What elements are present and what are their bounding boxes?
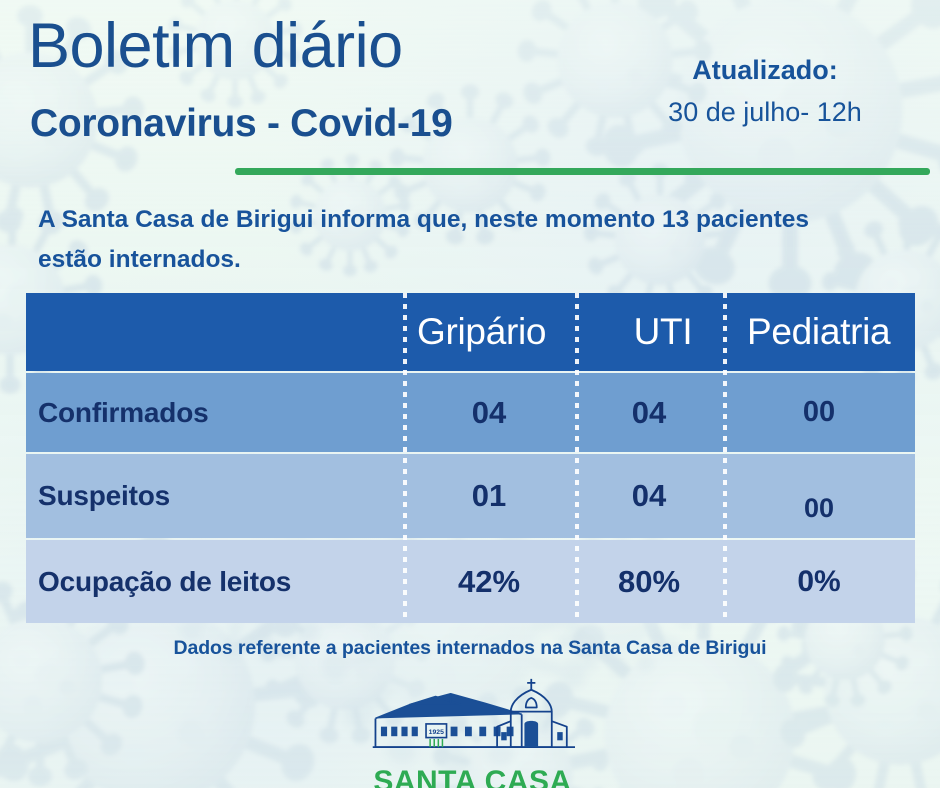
- cell-ocupacao-uti: 80%: [575, 564, 723, 600]
- updated-block: Atualizado: 30 de julho- 12h: [590, 52, 940, 132]
- row-label-ocupacao: Ocupação de leitos: [26, 566, 403, 598]
- table-row: Ocupação de leitos 42% 80% 0%: [26, 540, 915, 623]
- cell-confirmados-pediatria: 00: [723, 396, 915, 429]
- header: Boletim diário Coronavirus - Covid-19 At…: [0, 0, 940, 190]
- cell-confirmados-uti: 04: [575, 395, 723, 431]
- table-row: Confirmados 04 04 00: [26, 373, 915, 452]
- row-label-text: Ocupação de leitos: [38, 566, 291, 597]
- hospital-building-icon: 1925: [370, 676, 575, 765]
- column-header-uti: UTI: [589, 311, 737, 353]
- table-row: Suspeitos 01 04 00: [26, 454, 915, 538]
- row-label-suspeitos: Suspeitos: [26, 480, 403, 512]
- cell-suspeitos-uti: 04: [575, 478, 723, 514]
- column-header-gripario: Gripário: [403, 311, 589, 353]
- cell-ocupacao-pediatria: 0%: [723, 565, 915, 599]
- value-text: 0%: [797, 565, 840, 598]
- column-header-pediatria: Pediatria: [737, 311, 939, 353]
- logo-wordmark-primary: SANTA CASA: [370, 767, 575, 788]
- value-text: 04: [632, 395, 666, 430]
- santa-casa-logo: 1925: [370, 676, 575, 788]
- cell-suspeitos-gripario: 01: [403, 478, 575, 514]
- updated-label: Atualizado:: [590, 52, 940, 88]
- value-text: 42%: [458, 564, 520, 599]
- intro-paragraph: A Santa Casa de Birigui informa que, nes…: [38, 200, 858, 279]
- value-text: 01: [472, 478, 506, 513]
- updated-date: 30 de julho- 12h: [590, 94, 940, 132]
- value-text: 00: [803, 396, 835, 428]
- cell-ocupacao-gripario: 42%: [403, 564, 575, 600]
- cell-confirmados-gripario: 04: [403, 395, 575, 431]
- accent-divider: [235, 168, 930, 175]
- status-table: Gripário UTI Pediatria Confirmados 04 04…: [26, 293, 915, 623]
- value-text: 00: [804, 493, 834, 523]
- page-title: Boletim diário: [28, 14, 403, 78]
- footer-note: Dados referente a pacientes internados n…: [0, 637, 940, 660]
- row-label-confirmados: Confirmados: [26, 397, 403, 429]
- value-text: 04: [472, 395, 506, 430]
- row-label-text: Suspeitos: [38, 480, 170, 511]
- table-header-row: Gripário UTI Pediatria: [26, 293, 915, 371]
- cell-suspeitos-pediatria: 00: [723, 481, 915, 512]
- poster-canvas: Boletim diário Coronavirus - Covid-19 At…: [0, 0, 940, 788]
- logo-plaque-year: 1925: [429, 729, 444, 736]
- page-subtitle: Coronavirus - Covid-19: [30, 104, 452, 143]
- value-text: 04: [632, 478, 666, 513]
- row-label-text: Confirmados: [38, 397, 208, 428]
- value-text: 80%: [618, 564, 680, 599]
